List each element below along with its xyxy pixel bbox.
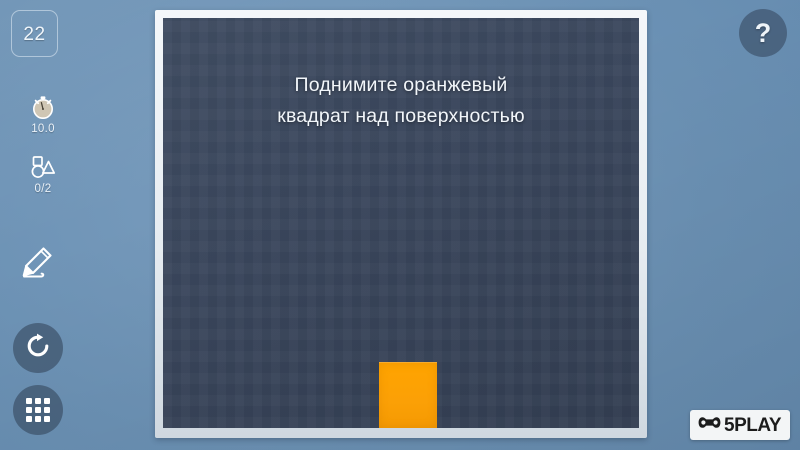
playfield[interactable]: Поднимите оранжевый квадрат над поверхно… bbox=[163, 18, 639, 428]
pencil-draw-icon bbox=[17, 244, 57, 287]
stat-shapes: 0/2 bbox=[0, 152, 86, 195]
restart-button[interactable] bbox=[13, 323, 63, 373]
stat-timer: 10.0 bbox=[0, 92, 86, 135]
restart-icon bbox=[24, 332, 52, 365]
timer-value: 10.0 bbox=[0, 123, 86, 135]
help-button[interactable]: ? bbox=[739, 9, 787, 57]
shapes-icon bbox=[0, 152, 86, 182]
playfield-frame: Поднимите оранжевый квадрат над поверхно… bbox=[155, 10, 647, 438]
stopwatch-icon bbox=[0, 92, 86, 122]
brand-text: 5PLAY bbox=[724, 416, 781, 435]
gamepad-icon bbox=[698, 415, 721, 435]
sidebar: 22 10.0 bbox=[0, 0, 150, 450]
prompt-line-1: Поднимите оранжевый bbox=[185, 70, 617, 101]
prompt-line-2: квадрат над поверхностью bbox=[185, 101, 617, 132]
orange-square[interactable] bbox=[379, 362, 437, 428]
draw-tool[interactable] bbox=[14, 243, 60, 287]
grid-icon bbox=[26, 398, 50, 422]
brand-watermark: 5PLAY bbox=[690, 410, 790, 440]
level-prompt: Поднимите оранжевый квадрат над поверхно… bbox=[163, 70, 639, 132]
shapes-value: 0/2 bbox=[0, 183, 86, 195]
level-badge[interactable]: 22 bbox=[11, 10, 58, 57]
levels-button[interactable] bbox=[13, 385, 63, 435]
game-screen: 22 10.0 bbox=[0, 0, 800, 450]
